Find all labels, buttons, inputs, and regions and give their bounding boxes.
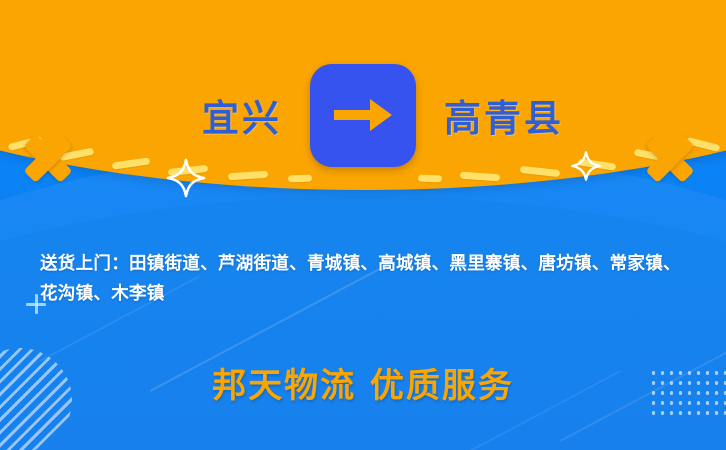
x-mark-icon — [642, 130, 698, 186]
destination-city: 高青县 — [416, 88, 624, 142]
road-dash — [288, 175, 312, 183]
x-mark-icon — [20, 130, 76, 186]
arrow-right-icon — [310, 64, 416, 167]
origin-city: 宜兴 — [102, 88, 310, 142]
route-header: 宜兴 高青县 — [0, 63, 726, 167]
logistics-route-banner: 宜兴 高青县 送货上门：田镇街道、芦湖街道、青城镇、高城镇、黑里寨镇、唐坊镇、常… — [0, 0, 726, 450]
road-dash — [418, 175, 442, 183]
wave-arc — [0, 196, 726, 450]
delivery-coverage-text: 送货上门：田镇街道、芦湖街道、青城镇、高城镇、黑里寨镇、唐坊镇、常家镇、花沟镇、… — [40, 249, 692, 309]
company-slogan: 邦天物流 优质服务 — [0, 358, 726, 407]
